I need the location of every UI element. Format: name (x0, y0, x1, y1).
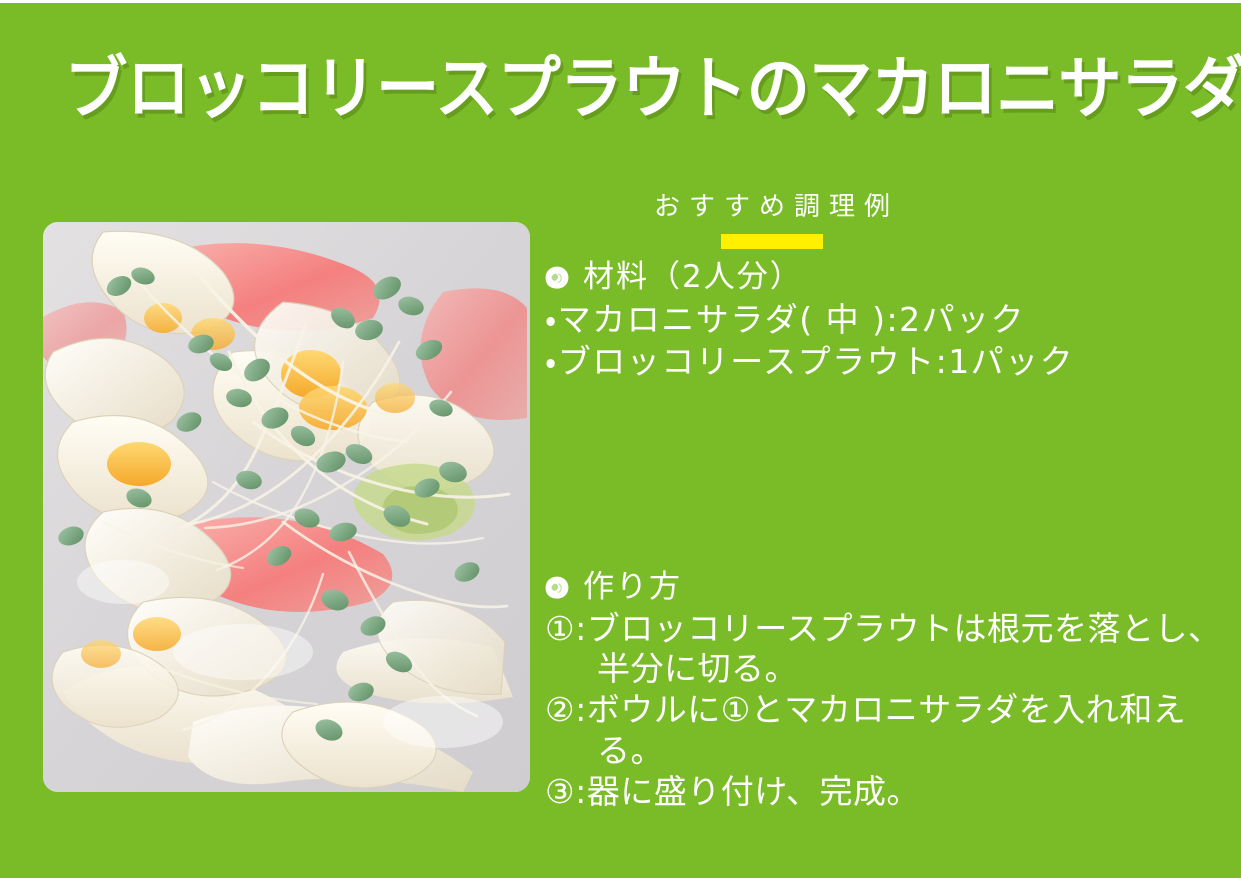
ingredients-heading-row: 材料（2人分） (545, 258, 1235, 297)
page-title: ブロッコリースプラウトのマカロニサラダ (64, 52, 1241, 128)
dish-photo (43, 222, 530, 792)
suggestion-header: おすすめ調理例 (567, 186, 977, 249)
list-item: ・マカロニサラダ( 中 ):2パック (545, 299, 1235, 341)
list-item: ②:ボウルに①とマカロニサラダを入れ和える。 (545, 690, 1241, 771)
steps-section: 作り方 ①:ブロッコリースプラウトは根元を落とし、半分に切る。 ②:ボウルに①と… (545, 568, 1241, 813)
ingredients-section: 材料（2人分） ・マカロニサラダ( 中 ):2パック ・ブロッコリースプラウト:… (545, 258, 1235, 383)
list-item: ①:ブロッコリースプラウトは根元を落とし、半分に切る。 (545, 609, 1241, 690)
steps-heading-row: 作り方 (545, 568, 1241, 607)
list-item: ・ブロッコリースプラウト:1パック (545, 341, 1235, 383)
dish-photo-illustration (43, 222, 530, 792)
suggestion-label: おすすめ調理例 (645, 186, 899, 223)
steps-heading: 作り方 (583, 568, 682, 607)
recipe-card: ブロッコリースプラウトのマカロニサラダ (0, 0, 1241, 878)
ingredients-heading: 材料（2人分） (583, 258, 803, 297)
blob-icon (545, 266, 569, 289)
recipe-details: おすすめ調理例 材料（2人分） ・マカロニサラダ( 中 ):2パック ・ブロッコ… (545, 186, 1235, 249)
steps-list: ①:ブロッコリースプラウトは根元を落とし、半分に切る。 ②:ボウルに①とマカロニ… (545, 609, 1241, 812)
top-edge-divider (0, 0, 1241, 3)
blob-icon (545, 576, 569, 599)
yellow-underline-bar (721, 234, 823, 249)
list-item: ③:器に盛り付け、完成。 (545, 772, 1241, 812)
title-container: ブロッコリースプラウトのマカロニサラダ (0, 52, 1241, 128)
ingredients-list: ・マカロニサラダ( 中 ):2パック ・ブロッコリースプラウト:1パック (545, 299, 1235, 383)
